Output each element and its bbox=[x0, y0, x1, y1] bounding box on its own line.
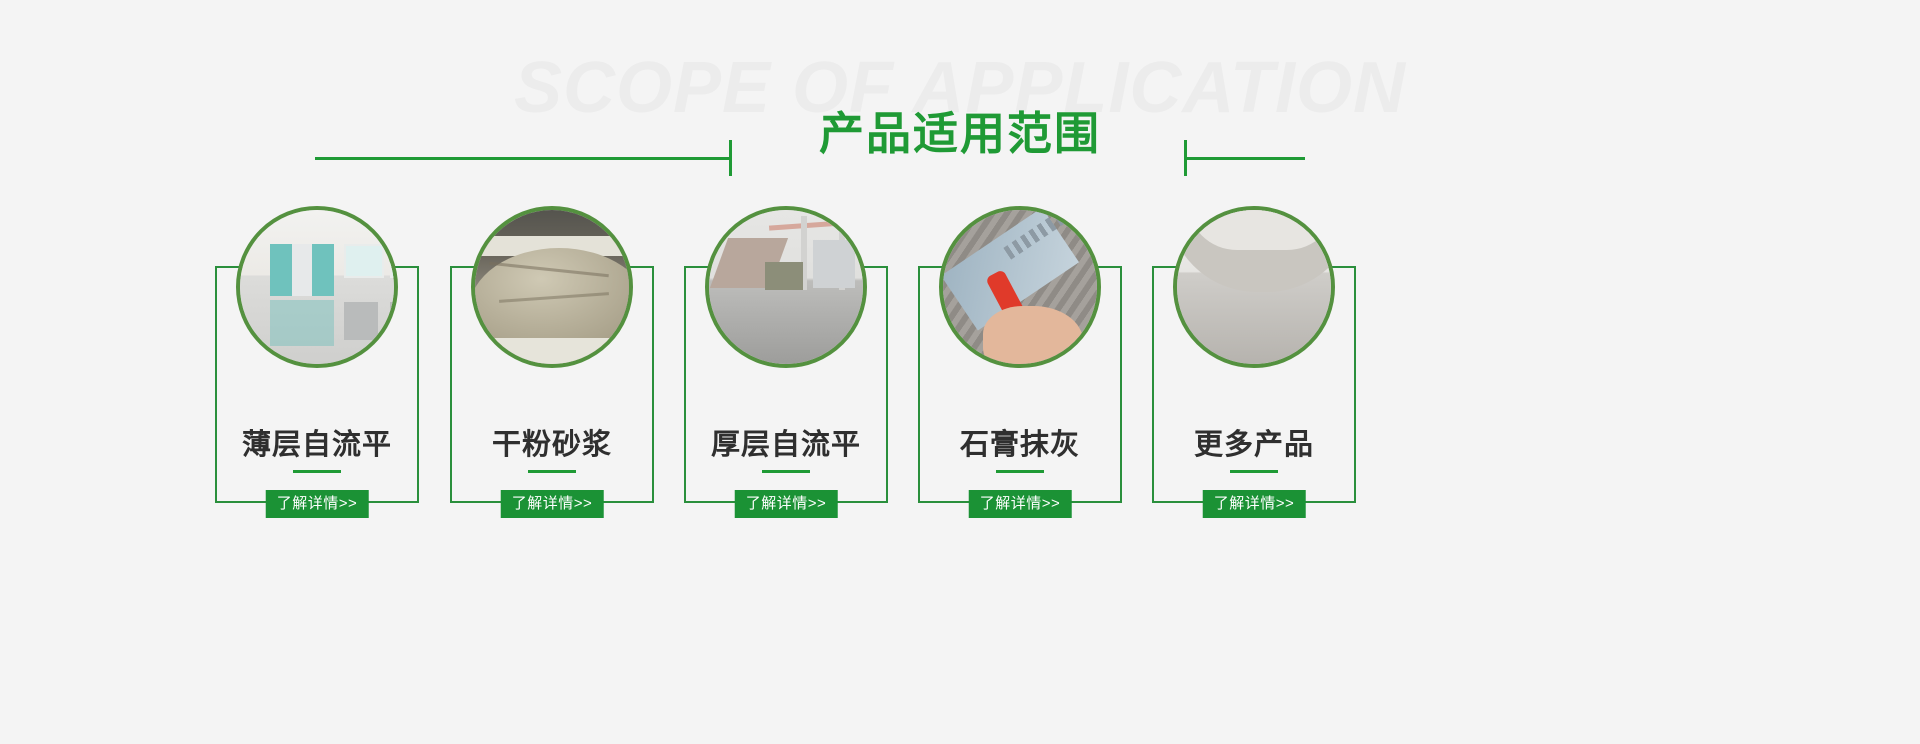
learn-more-button[interactable]: 了解详情>> bbox=[1203, 490, 1306, 518]
section-header: SCOPE OF APPLICATION 产品适用范围 bbox=[0, 0, 1920, 200]
product-card-thin-layer-self-leveling[interactable]: 薄层自流平 了解详情>> bbox=[215, 268, 419, 503]
thick-layer-self-leveling-floor-photo bbox=[709, 210, 863, 364]
product-card-more-products[interactable]: 更多产品 了解详情>> bbox=[1152, 268, 1356, 503]
card-image-thumbnail[interactable] bbox=[236, 206, 398, 368]
gypsum-plastering-trowel-photo bbox=[943, 210, 1097, 364]
card-title-underline bbox=[528, 470, 576, 473]
product-card-thick-layer-self-leveling[interactable]: 厚层自流平 了解详情>> bbox=[684, 268, 888, 503]
card-title: 更多产品 bbox=[1152, 428, 1356, 462]
card-title: 干粉砂浆 bbox=[450, 428, 654, 462]
learn-more-button[interactable]: 了解详情>> bbox=[501, 490, 604, 518]
learn-more-button[interactable]: 了解详情>> bbox=[969, 490, 1072, 518]
thin-layer-self-leveling-floor-photo bbox=[240, 210, 394, 364]
card-image-thumbnail[interactable] bbox=[939, 206, 1101, 368]
card-title: 厚层自流平 bbox=[684, 428, 888, 462]
learn-more-button[interactable]: 了解详情>> bbox=[735, 490, 838, 518]
card-title: 薄层自流平 bbox=[215, 428, 419, 462]
card-title-underline bbox=[762, 470, 810, 473]
dry-powder-mortar-bag-photo bbox=[475, 210, 629, 364]
scope-of-application-section: SCOPE OF APPLICATION 产品适用范围 薄层自流平 了解详情>> bbox=[0, 0, 1920, 744]
page-title: 产品适用范围 bbox=[0, 103, 1920, 165]
product-card-gypsum-plastering[interactable]: 石膏抹灰 了解详情>> bbox=[918, 268, 1122, 503]
more-products-surface-photo bbox=[1177, 210, 1331, 364]
card-title-underline bbox=[996, 470, 1044, 473]
title-row: 产品适用范围 bbox=[0, 103, 1920, 173]
product-card-dry-powder-mortar[interactable]: 干粉砂浆 了解详情>> bbox=[450, 268, 654, 503]
card-title-underline bbox=[293, 470, 341, 473]
card-image-thumbnail[interactable] bbox=[471, 206, 633, 368]
card-image-thumbnail[interactable] bbox=[705, 206, 867, 368]
title-rule-right bbox=[1184, 157, 1305, 160]
card-title-underline bbox=[1230, 470, 1278, 473]
card-image-thumbnail[interactable] bbox=[1173, 206, 1335, 368]
card-title: 石膏抹灰 bbox=[918, 428, 1122, 462]
learn-more-button[interactable]: 了解详情>> bbox=[266, 490, 369, 518]
card-list: 薄层自流平 了解详情>> 干粉砂浆 了解详情>> bbox=[0, 200, 1920, 540]
